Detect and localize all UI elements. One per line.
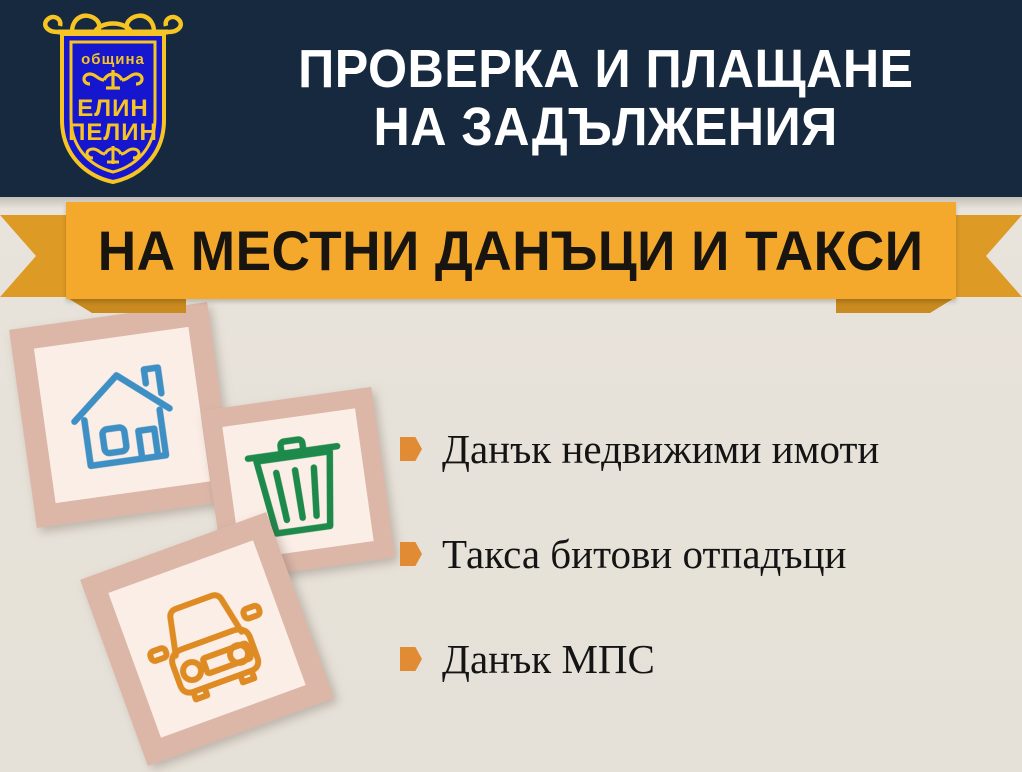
svg-text:ПЕЛИН: ПЕЛИН: [68, 119, 158, 146]
list-item[interactable]: Данък МПС: [400, 635, 1010, 683]
ribbon-fold-right: [836, 297, 956, 313]
title-line-1: ПРОВЕРКА И ПЛАЩАНЕ: [298, 41, 913, 98]
ribbon-fold-left: [66, 297, 186, 313]
list-item-label: Такса битови отпадъци: [442, 534, 846, 575]
arrow-bullet-icon: [400, 437, 422, 461]
header-bar: община ЕЛИН ПЕЛИН: [0, 0, 1022, 197]
services-list: Данък недвижими имоти Такса битови отпад…: [400, 425, 1010, 683]
coat-of-arms-icon: община ЕЛИН ПЕЛИН: [38, 8, 188, 188]
page-title: ПРОВЕРКА И ПЛАЩАНЕ НА ЗАДЪЛЖЕНИЯ: [190, 0, 1022, 197]
arrow-bullet-icon: [400, 647, 422, 671]
list-item-label: Данък МПС: [442, 639, 655, 680]
title-line-2: НА ЗАДЪЛЖЕНИЯ: [374, 99, 838, 156]
poster-root: община ЕЛИН ПЕЛИН: [0, 0, 1022, 772]
ribbon-banner: НА МЕСТНИ ДАНЪЦИ И ТАКСИ: [66, 202, 956, 299]
list-item[interactable]: Такса битови отпадъци: [400, 530, 1010, 578]
svg-text:община: община: [81, 51, 145, 68]
ribbon-label: НА МЕСТНИ ДАНЪЦИ И ТАКСИ: [98, 218, 924, 283]
subtitle-ribbon: НА МЕСТНИ ДАНЪЦИ И ТАКСИ: [0, 197, 1022, 315]
arrow-bullet-icon: [400, 542, 422, 566]
list-item-label: Данък недвижими имоти: [442, 429, 879, 470]
list-item[interactable]: Данък недвижими имоти: [400, 425, 1010, 473]
svg-text:ЕЛИН: ЕЛИН: [77, 95, 148, 122]
